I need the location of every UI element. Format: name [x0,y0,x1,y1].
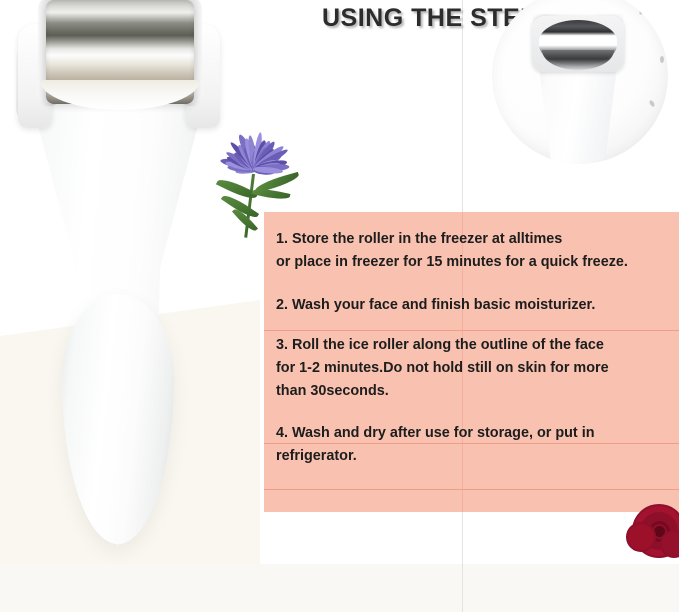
step-3-line-1: 3. Roll the ice roller along the outline… [276,334,667,357]
instruction-step-1: 1. Store the roller in the freezer at al… [264,212,679,274]
inset-rim-dot [648,99,655,107]
step-1-line-1: 1. Store the roller in the freezer at al… [276,228,667,251]
instruction-step-4: 4. Wash and dry after use for storage, o… [264,403,679,468]
background-cream-strip [0,564,679,612]
roller-handle-grip [62,294,174,544]
inset-rim-dot [638,8,645,16]
step-4-line-1: 4. Wash and dry after use for storage, o… [276,422,667,445]
rose-petal [626,522,656,552]
step-4-line-2: refrigerator. [276,445,667,468]
instructions-panel: 1. Store the roller in the freezer at al… [264,212,679,512]
roller-head-closeup-inset [492,0,668,164]
instruction-step-2: 2. Wash your face and finish basic moist… [264,274,679,317]
product-infographic: USING THE STEP 1. Store the roller in th… [0,0,679,612]
cornflower-decoration [208,128,326,240]
step-divider-1 [264,489,679,490]
red-rose-decoration [630,500,679,562]
step-3-line-3: than 30seconds. [276,380,667,403]
instruction-step-3: 3. Roll the ice roller along the outline… [264,317,679,403]
step-2-line-1: 2. Wash your face and finish basic moist… [276,294,667,317]
step-1-line-2: or place in freezer for 15 minutes for a… [276,251,667,274]
step-3-line-2: for 1-2 minutes.Do not hold still on ski… [276,357,667,380]
ice-roller-product [2,0,234,554]
inset-rim-dot [660,56,664,63]
